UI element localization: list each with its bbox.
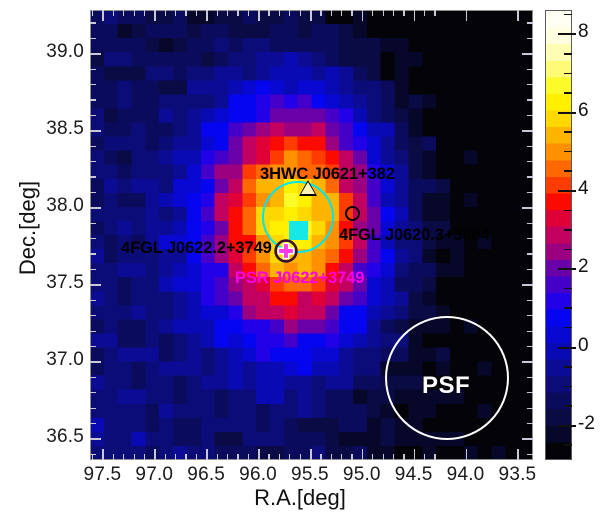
colorbar-minor-tick	[564, 386, 572, 388]
colorbar-tick	[558, 425, 576, 427]
y-minor-tick-right	[527, 146, 533, 147]
x-minor-tick	[434, 454, 435, 460]
x-minor-tick-top	[331, 10, 332, 16]
x-minor-tick-top	[227, 10, 228, 16]
x-tick-label: 94.0	[440, 464, 492, 486]
y-major-tick	[90, 361, 101, 363]
annotation-4fgl-j0622-2-3749: 4FGL J0622.2+3749	[121, 239, 272, 258]
x-tick-label: 94.5	[388, 464, 440, 486]
figure-root: PSF 3HWC J0621+382 4FGL J0620.3+3804 4FG…	[0, 0, 600, 524]
psr-cross-icon	[273, 238, 299, 264]
colorbar-tick	[558, 347, 576, 349]
x-minor-tick-top	[217, 10, 218, 16]
x-minor-tick-top	[403, 10, 404, 16]
colorbar-tick	[558, 33, 576, 35]
x-minor-tick-top	[289, 10, 290, 16]
y-minor-tick	[90, 377, 96, 378]
y-major-tick	[90, 438, 101, 440]
x-minor-tick-top	[393, 10, 394, 16]
y-minor-tick	[90, 22, 96, 23]
x-major-tick-top	[362, 10, 364, 21]
x-minor-tick	[424, 454, 425, 460]
y-tick-label: 38.5	[14, 118, 84, 140]
y-minor-tick-right	[527, 408, 533, 409]
y-minor-tick	[90, 346, 96, 347]
x-minor-tick	[341, 454, 342, 460]
y-minor-tick	[90, 161, 96, 162]
y-minor-tick-right	[527, 315, 533, 316]
x-minor-tick	[237, 454, 238, 460]
x-minor-tick	[289, 454, 290, 460]
annotation-psr-j0622-3749: PSR J0622+3749	[235, 269, 364, 288]
x-tick-label: 96.5	[180, 464, 232, 486]
x-minor-tick	[165, 454, 166, 460]
y-minor-tick	[90, 84, 96, 85]
x-minor-tick	[175, 454, 176, 460]
colorbar-minor-tick	[564, 14, 572, 16]
colorbar-minor-tick	[564, 405, 572, 407]
y-minor-tick	[90, 238, 96, 239]
colorbar-minor-tick	[564, 444, 572, 446]
x-minor-tick	[113, 454, 114, 460]
x-minor-tick-top	[268, 10, 269, 16]
y-minor-tick	[90, 269, 96, 270]
x-major-tick-top	[517, 10, 519, 21]
colorbar	[545, 10, 572, 460]
colorbar-tick-label: 0	[578, 335, 589, 357]
y-major-tick	[90, 207, 101, 209]
x-minor-tick	[351, 454, 352, 460]
colorbar-minor-tick	[564, 210, 572, 212]
y-minor-tick	[90, 454, 96, 455]
y-minor-tick-right	[527, 346, 533, 347]
x-minor-tick-top	[144, 10, 145, 16]
y-minor-tick	[90, 223, 96, 224]
colorbar-tick	[558, 112, 576, 114]
x-minor-tick-top	[113, 10, 114, 16]
x-minor-tick-top	[248, 10, 249, 16]
y-major-tick-right	[522, 207, 533, 209]
y-minor-tick	[90, 331, 96, 332]
y-major-tick	[90, 284, 101, 286]
x-minor-tick-top	[372, 10, 373, 16]
y-minor-tick-right	[527, 238, 533, 239]
colorbar-tick-label: 4	[578, 178, 589, 200]
y-minor-tick	[90, 176, 96, 177]
y-tick-label: 39.0	[14, 41, 84, 63]
y-major-tick-right	[522, 284, 533, 286]
colorbar-minor-tick	[564, 327, 572, 329]
x-axis-title: R.A.[deg]	[0, 485, 600, 511]
x-tick-label: 96.0	[232, 464, 284, 486]
colorbar-minor-tick	[564, 249, 572, 251]
x-minor-tick-top	[165, 10, 166, 16]
x-minor-tick-top	[134, 10, 135, 16]
y-major-tick	[90, 53, 101, 55]
x-major-tick-top	[414, 10, 416, 21]
colorbar-minor-tick	[564, 53, 572, 55]
y-major-tick-right	[522, 53, 533, 55]
y-minor-tick-right	[527, 454, 533, 455]
x-major-tick	[310, 449, 312, 460]
x-minor-tick	[279, 454, 280, 460]
y-minor-tick-right	[527, 253, 533, 254]
colorbar-tick-label: 2	[578, 256, 589, 278]
colorbar-minor-tick	[564, 73, 572, 75]
x-major-tick-top	[258, 10, 260, 21]
y-minor-tick-right	[527, 161, 533, 162]
x-tick-label: 95.0	[336, 464, 388, 486]
x-minor-tick	[320, 454, 321, 460]
y-minor-tick-right	[527, 84, 533, 85]
x-minor-tick-top	[300, 10, 301, 16]
y-minor-tick	[90, 253, 96, 254]
colorbar-minor-tick	[564, 170, 572, 172]
y-tick-label: 37.0	[14, 349, 84, 371]
x-major-tick	[102, 449, 104, 460]
colorbar-minor-tick	[564, 131, 572, 133]
x-minor-tick-top	[92, 10, 93, 16]
x-minor-tick-top	[237, 10, 238, 16]
x-minor-tick-top	[196, 10, 197, 16]
psf-label: PSF	[422, 372, 470, 400]
y-minor-tick-right	[527, 22, 533, 23]
x-minor-tick	[268, 454, 269, 460]
colorbar-minor-tick	[564, 92, 572, 94]
x-minor-tick	[331, 454, 332, 460]
colorbar-tick-label: 6	[578, 100, 589, 122]
x-tick-label: 93.5	[491, 464, 543, 486]
x-major-tick	[414, 449, 416, 460]
x-major-tick	[258, 449, 260, 460]
x-minor-tick-top	[320, 10, 321, 16]
y-minor-tick	[90, 38, 96, 39]
y-minor-tick	[90, 423, 96, 424]
y-minor-tick-right	[527, 99, 533, 100]
colorbar-canvas	[546, 11, 571, 459]
x-major-tick-top	[310, 10, 312, 21]
y-minor-tick-right	[527, 423, 533, 424]
x-minor-tick-top	[351, 10, 352, 16]
y-minor-tick-right	[527, 269, 533, 270]
y-minor-tick	[90, 315, 96, 316]
colorbar-minor-tick	[564, 151, 572, 153]
y-tick-label: 36.5	[14, 426, 84, 448]
y-minor-tick-right	[527, 331, 533, 332]
y-minor-tick-right	[527, 223, 533, 224]
annotation-3hwc-j0621-382: 3HWC J0621+382	[260, 165, 395, 184]
x-tick-label: 97.0	[128, 464, 180, 486]
x-minor-tick-top	[341, 10, 342, 16]
skymap-plot-area: PSF 3HWC J0621+382 4FGL J0620.3+3804 4FG…	[90, 10, 533, 460]
x-major-tick-top	[466, 10, 468, 21]
colorbar-minor-tick	[564, 229, 572, 231]
x-major-tick-top	[206, 10, 208, 21]
x-minor-tick	[227, 454, 228, 460]
x-tick-label: 95.5	[284, 464, 336, 486]
x-minor-tick-top	[383, 10, 384, 16]
x-major-tick	[362, 449, 364, 460]
y-minor-tick-right	[527, 115, 533, 116]
x-major-tick-top	[154, 10, 156, 21]
x-minor-tick	[248, 454, 249, 460]
x-minor-tick	[196, 454, 197, 460]
x-minor-tick	[393, 454, 394, 460]
x-minor-tick-top	[424, 10, 425, 16]
x-minor-tick	[134, 454, 135, 460]
x-minor-tick-top	[279, 10, 280, 16]
colorbar-tick	[558, 268, 576, 270]
x-minor-tick	[403, 454, 404, 460]
y-minor-tick-right	[527, 392, 533, 393]
y-minor-tick-right	[527, 192, 533, 193]
colorbar-minor-tick	[564, 366, 572, 368]
y-minor-tick	[90, 408, 96, 409]
x-minor-tick	[217, 454, 218, 460]
x-minor-tick-top	[175, 10, 176, 16]
x-minor-tick	[372, 454, 373, 460]
y-minor-tick	[90, 300, 96, 301]
x-minor-tick-top	[123, 10, 124, 16]
x-major-tick	[206, 449, 208, 460]
x-minor-tick	[144, 454, 145, 460]
colorbar-tick-label: -2	[578, 413, 595, 435]
colorbar-minor-tick	[564, 288, 572, 290]
y-minor-tick	[90, 192, 96, 193]
y-major-tick-right	[522, 130, 533, 132]
y-minor-tick-right	[527, 69, 533, 70]
y-minor-tick-right	[527, 300, 533, 301]
y-minor-tick-right	[527, 38, 533, 39]
y-axis-title: Dec.[deg]	[15, 148, 41, 308]
y-major-tick	[90, 130, 101, 132]
x-major-tick	[154, 449, 156, 460]
y-minor-tick-right	[527, 377, 533, 378]
x-minor-tick-top	[434, 10, 435, 16]
x-major-tick-top	[102, 10, 104, 21]
y-major-tick-right	[522, 361, 533, 363]
colorbar-tick-label: 8	[578, 21, 589, 43]
y-minor-tick	[90, 115, 96, 116]
x-minor-tick	[300, 454, 301, 460]
y-major-tick-right	[522, 438, 533, 440]
y-minor-tick	[90, 392, 96, 393]
colorbar-minor-tick	[564, 307, 572, 309]
x-tick-label: 97.5	[76, 464, 128, 486]
y-minor-tick-right	[527, 176, 533, 177]
y-minor-tick	[90, 99, 96, 100]
y-minor-tick	[90, 146, 96, 147]
y-minor-tick	[90, 69, 96, 70]
x-minor-tick	[185, 454, 186, 460]
x-minor-tick	[383, 454, 384, 460]
x-minor-tick-top	[185, 10, 186, 16]
circle-icon	[345, 206, 360, 221]
colorbar-tick	[558, 190, 576, 192]
x-minor-tick	[123, 454, 124, 460]
x-major-tick	[466, 449, 468, 460]
annotation-4fgl-j0620-3804: 4FGL J0620.3+3804	[339, 226, 490, 245]
x-major-tick	[517, 449, 519, 460]
